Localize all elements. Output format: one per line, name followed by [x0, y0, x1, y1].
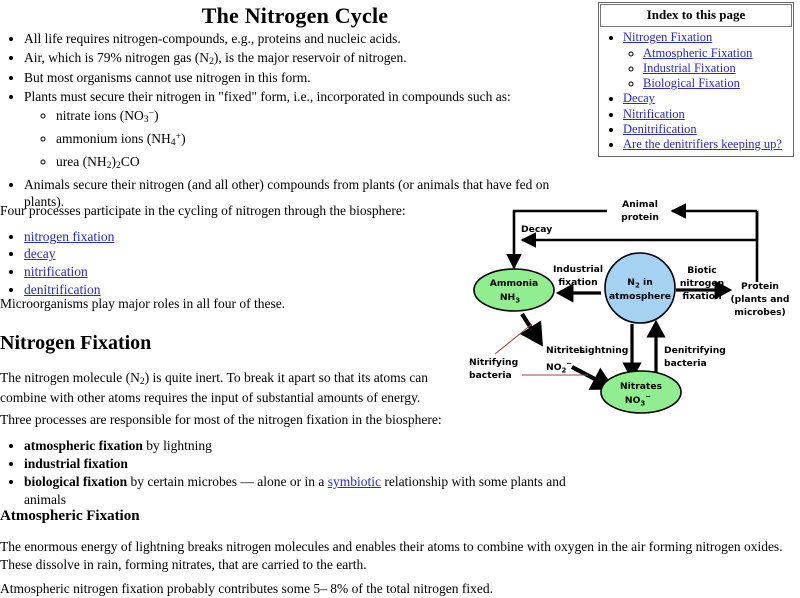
- index-link-nitrogen-fixation[interactable]: Nitrogen Fixation: [623, 30, 712, 44]
- microorganisms-paragraph: Microorganisms play major roles in all f…: [0, 296, 470, 313]
- list-item-biological-fixation: biological fixation by certain microbes …: [24, 473, 600, 509]
- heading-nitrogen-fixation: Nitrogen Fixation: [0, 331, 151, 356]
- label-denitrifying-line2: bacteria: [664, 358, 707, 369]
- page-title: The Nitrogen Cycle: [0, 2, 590, 30]
- index-sublist-nitrogen-fixation: Atmospheric Fixation Industrial Fixation…: [623, 46, 791, 92]
- label-protein-line2: (plants and: [730, 294, 789, 305]
- list-item: nitrification: [24, 263, 470, 281]
- list-item-atmospheric-fixation: atmospheric fixation by lightning: [24, 437, 600, 455]
- intro-subbullet-ammonium-ions: ammonium ions (NH4+): [56, 130, 590, 150]
- link-symbiotic[interactable]: symbiotic: [328, 474, 381, 489]
- ammonium-pre: ammonium ions (NH: [56, 131, 171, 146]
- urea-tail-post: CO: [121, 154, 140, 169]
- list-item: nitrogen fixation: [24, 228, 470, 246]
- nitrogen-cycle-diagram: Ammonia NH3 N2 in atmosphere Industrial …: [460, 190, 800, 420]
- label-animal-protein-line1: Animal: [622, 199, 658, 210]
- index-item-biological-fixation: Biological Fixation: [643, 76, 791, 91]
- index-link-decay[interactable]: Decay: [623, 91, 655, 105]
- index-item-nitrification: Nitrification: [623, 107, 791, 122]
- intro-subbullet-nitrate-ions: nitrate ions (NO3−): [56, 107, 590, 127]
- index-item-decay: Decay: [623, 91, 791, 106]
- intro-bullet-cannot-use: But most organisms cannot use nitrogen i…: [24, 69, 590, 87]
- label-biotic-line2: nitrogen: [680, 278, 724, 289]
- index-link-biological-fixation[interactable]: Biological Fixation: [643, 76, 740, 90]
- index-link-nitrification[interactable]: Nitrification: [623, 107, 685, 121]
- label-biotic-line1: Biotic: [687, 265, 716, 276]
- atmospheric-rest: by lightning: [143, 438, 212, 453]
- link-denitrification[interactable]: denitrification: [24, 282, 100, 297]
- index-item-industrial-fixation: Industrial Fixation: [643, 61, 791, 76]
- list-item-industrial-fixation: industrial fixation: [24, 455, 600, 473]
- intro-bullet-fixed-form: Plants must secure their nitrogen in "fi…: [24, 88, 590, 173]
- index-link-denitrifiers-keeping-up[interactable]: Are the denitrifiers keeping up?: [623, 137, 782, 151]
- label-biotic-line3: fixation: [682, 291, 721, 302]
- heading-atmospheric-fixation: Atmospheric Fixation: [0, 507, 140, 526]
- index-link-denitrification[interactable]: Denitrification: [623, 122, 697, 136]
- label-decay: Decay: [521, 224, 552, 235]
- intro-sublist-compounds: nitrate ions (NO3−) ammonium ions (NH4+)…: [24, 107, 590, 172]
- intro-bullet-air-reservoir: Air, which is 79% nitrogen gas (N2), is …: [24, 49, 590, 69]
- index-link-atmospheric-fixation[interactable]: Atmospheric Fixation: [643, 46, 752, 60]
- label-nitrifying-line1: Nitrifying: [469, 357, 518, 368]
- paragraph-nitrogen-inert: The nitrogen molecule (N2) is quite iner…: [0, 369, 460, 407]
- index-item-nitrogen-fixation: Nitrogen Fixation Atmospheric Fixation I…: [623, 30, 791, 91]
- label-protein-line1: Protein: [741, 281, 779, 292]
- label-industrial-line2: fixation: [558, 277, 597, 288]
- intro-bullet-air-post: ), is the major reservoir of nitrogen.: [214, 50, 407, 65]
- intro-list: All life requires nitrogen-compounds, e.…: [0, 30, 590, 211]
- nitrate-pre: nitrate ions (NO: [56, 108, 144, 123]
- four-processes-list: nitrogen fixation decay nitrification de…: [0, 228, 470, 298]
- leader-line-nitrifying-upper: [495, 324, 532, 354]
- n2-label-line1: N2 in: [627, 277, 652, 290]
- label-denitrifying-line1: Denitrifying: [664, 345, 726, 356]
- link-decay[interactable]: decay: [24, 246, 55, 261]
- index-item-denitrifiers-keeping-up: Are the denitrifiers keeping up?: [623, 137, 791, 152]
- nitrates-label-line1: Nitrates: [620, 381, 663, 392]
- paragraph-atmospheric-contribution: Atmospheric nitrogen fixation probably c…: [0, 581, 700, 598]
- node-ammonia: [474, 269, 554, 311]
- label-animal-protein-line2: protein: [621, 212, 659, 223]
- index-list: Nitrogen Fixation Atmospheric Fixation I…: [601, 30, 791, 152]
- ammonium-post: ): [181, 131, 186, 146]
- index-box-body: Nitrogen Fixation Atmospheric Fixation I…: [599, 28, 793, 156]
- four-processes-lead: Four processes participate in the cyclin…: [0, 203, 470, 220]
- intro-subbullet-urea: urea (NH2)2CO: [56, 153, 590, 173]
- inert-pre: The nitrogen molecule (N: [0, 370, 140, 385]
- link-nitrogen-fixation[interactable]: nitrogen fixation: [24, 229, 114, 244]
- ammonia-label-line1: Ammonia: [490, 278, 538, 289]
- list-item: decay: [24, 245, 470, 263]
- label-protein-line3: microbes): [734, 307, 786, 318]
- intro-bullet-air-pre: Air, which is 79% nitrogen gas (N: [24, 50, 209, 65]
- four-processes-block: Four processes participate in the cyclin…: [0, 203, 470, 298]
- bold-biological-fixation: biological fixation: [24, 474, 127, 489]
- label-nitrite-ion: NO2−: [546, 360, 572, 375]
- arrow-ammonia-to-nitrites: [522, 314, 540, 342]
- urea-pre: urea (NH: [56, 154, 107, 169]
- label-nitrifying-line2: bacteria: [469, 370, 512, 381]
- index-item-atmospheric-fixation: Atmospheric Fixation: [643, 46, 791, 61]
- n2-label-line2: atmosphere: [609, 291, 671, 302]
- bold-atmospheric-fixation: atmospheric fixation: [24, 438, 143, 453]
- index-box: Index to this page Nitrogen Fixation Atm…: [598, 2, 794, 157]
- bold-industrial-fixation: industrial fixation: [24, 456, 128, 471]
- intro-bullet-fixed-form-text: Plants must secure their nitrogen in "fi…: [24, 89, 511, 104]
- intro-bullet-list: All life requires nitrogen-compounds, e.…: [0, 30, 590, 212]
- three-processes-list: atmospheric fixation by lightning indust…: [0, 437, 600, 509]
- index-box-heading: Index to this page: [600, 4, 792, 27]
- paragraph-lightning-energy: The enormous energy of lightning breaks …: [0, 538, 795, 573]
- index-link-industrial-fixation[interactable]: Industrial Fixation: [643, 61, 736, 75]
- intro-bullet-life-requires-nitrogen: All life requires nitrogen-compounds, e.…: [24, 30, 590, 48]
- label-industrial-line1: Industrial: [553, 264, 603, 275]
- index-item-denitrification: Denitrification: [623, 122, 791, 137]
- node-n2-atmosphere: [605, 253, 675, 323]
- biological-rest-pre: by certain microbes — alone or in a: [127, 474, 328, 489]
- nitrate-post: ): [154, 108, 159, 123]
- link-nitrification[interactable]: nitrification: [24, 264, 88, 279]
- three-processes-block: Three processes are responsible for most…: [0, 412, 600, 509]
- label-lightning: Lightning: [579, 345, 628, 356]
